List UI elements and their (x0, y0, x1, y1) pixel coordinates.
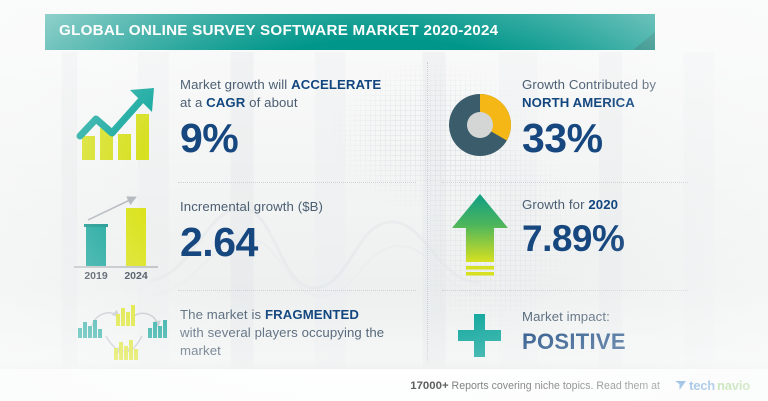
region-value: 33% (522, 118, 752, 159)
growth-year-text-block: Growth for 2020 7.89% (522, 196, 752, 257)
region-line2-emphasis: NORTH AMERICA (522, 95, 635, 110)
vertical-divider (427, 62, 428, 362)
fragmented-market-icon (62, 300, 174, 366)
bar-label-2024: 2024 (124, 270, 148, 282)
divider-right-2 (442, 290, 688, 291)
infographic-root: GLOBAL ONLINE SURVEY SOFTWARE MARKET 202… (0, 0, 768, 401)
region-description: Growth Contributed by NORTH AMERICA (522, 76, 752, 112)
cagr-line2-emphasis: CAGR (206, 95, 245, 110)
growth-year-label-plain: Growth for (522, 197, 588, 212)
technavio-logo[interactable]: tech navio (674, 378, 750, 393)
divider-left-2 (178, 290, 416, 291)
two-bars-icon: 2019 2024 (62, 186, 174, 282)
footer-report-count: 17000+ (410, 380, 448, 392)
growth-year-label-emphasis: 2020 (588, 197, 618, 212)
fragmented-line1-emphasis: FRAGMENTED (265, 307, 359, 322)
cagr-value: 9% (180, 118, 420, 159)
fragmented-line2: with several players occupying the (180, 325, 384, 340)
region-text-block: Growth Contributed by NORTH AMERICA 33% (522, 76, 752, 159)
incremental-text-block: Incremental growth ($B) 2.64 (180, 198, 420, 263)
divider-left-1 (178, 182, 416, 183)
impact-label: Market impact: (522, 308, 752, 326)
incremental-label: Incremental growth ($B) (180, 198, 420, 216)
page-title: GLOBAL ONLINE SURVEY SOFTWARE MARKET 202… (59, 22, 498, 39)
up-arrow-icon (448, 190, 512, 282)
divider-right-1 (442, 182, 688, 183)
cagr-description: Market growth will ACCELERATE at a CAGR … (180, 76, 420, 112)
cagr-line2-plain-b: of about (245, 95, 297, 110)
impact-text-block: Market impact: POSITIVE (522, 308, 752, 353)
cagr-line2-plain-a: at a (180, 95, 206, 110)
fragmented-line3: market (180, 343, 221, 358)
plus-icon (452, 308, 508, 364)
incremental-value: 2.64 (180, 222, 420, 263)
bar-label-2019: 2019 (84, 270, 108, 282)
logo-text-navio: navio (717, 378, 750, 393)
fragmented-text-block: The market is FRAGMENTED with several pl… (180, 306, 425, 360)
footer-text: 17000+ Reports covering niche topics. Re… (410, 380, 660, 392)
fragmented-description: The market is FRAGMENTED with several pl… (180, 306, 425, 360)
logo-text-tech: tech (689, 378, 715, 393)
growth-year-label: Growth for 2020 (522, 196, 752, 214)
impact-value: POSITIVE (522, 331, 752, 353)
fragmented-line1-plain: The market is (180, 307, 265, 322)
region-line1: Growth Contributed by (522, 77, 656, 92)
growth-year-value: 7.89% (522, 220, 752, 257)
donut-chart-icon (441, 86, 519, 164)
cagr-line1-emphasis: ACCELERATE (291, 77, 381, 92)
cagr-line1-plain: Market growth will (180, 77, 291, 92)
growth-chart-icon (66, 78, 170, 166)
technavio-mark-icon (674, 379, 687, 392)
cagr-text-block: Market growth will ACCELERATE at a CAGR … (180, 76, 420, 159)
footer-caption: Reports covering niche topics. Read them… (452, 380, 660, 392)
